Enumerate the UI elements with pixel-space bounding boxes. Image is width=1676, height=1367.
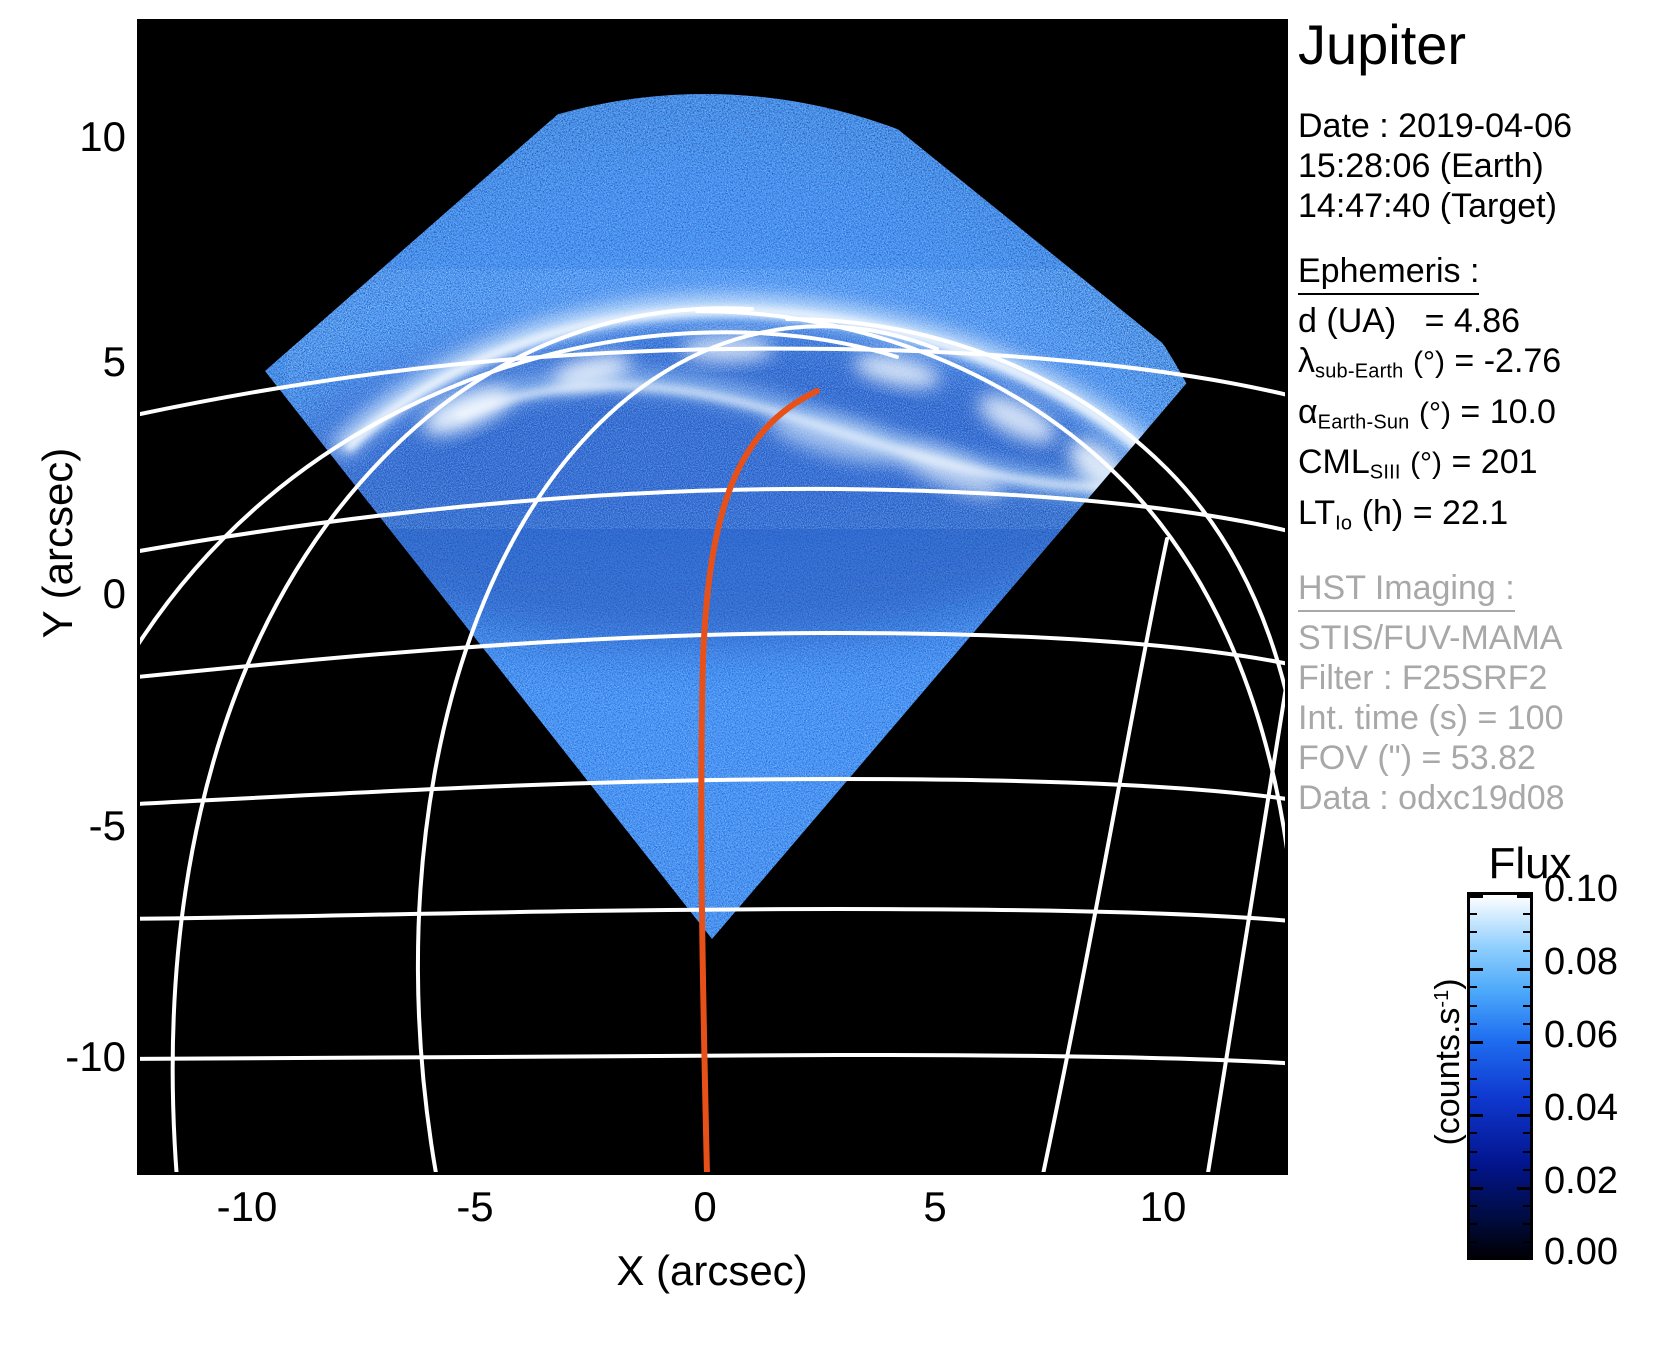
hst-field-of-view: FOV (") = 53.82	[1298, 738, 1668, 778]
x-tick-neg5: -5	[395, 1186, 555, 1228]
hst-integration-time: Int. time (s) = 100	[1298, 698, 1668, 738]
ephemeris-row-io-local-time: LTIo (h) = 22.1	[1298, 493, 1668, 544]
hst-filter: Filter : F25SRF2	[1298, 658, 1668, 698]
observation-block: Date : 2019-04-06 15:28:06 (Earth) 14:47…	[1298, 106, 1668, 226]
colorbar-tick-0.10: 0.10	[1544, 870, 1676, 908]
y-tick-neg5: -5	[8, 805, 126, 847]
x-tick-neg10: -10	[167, 1186, 327, 1228]
ephemeris-row-phase-angle: αEarth-Sun (°) = 10.0	[1298, 392, 1668, 443]
info-panel: Jupiter Date : 2019-04-06 15:28:06 (Eart…	[1298, 14, 1668, 818]
ephemeris-symbol-alpha: α	[1298, 393, 1318, 431]
ephemeris-unit-cml: (°)	[1410, 447, 1442, 480]
ephemeris-subscript-io: Io	[1335, 512, 1352, 534]
ephemeris-subscript-siii: SIII	[1370, 462, 1401, 484]
colorbar-unit-exponent: -1	[1431, 990, 1453, 1008]
ephemeris-symbol-cml: CML	[1298, 443, 1370, 481]
hst-dataset-id: Data : odxc19d08	[1298, 778, 1668, 818]
x-tick-10: 10	[1083, 1186, 1243, 1228]
ephemeris-block: Ephemeris : d (UA) = 4.86 λsub-Earth (°)…	[1298, 252, 1668, 543]
observation-date: Date : 2019-04-06	[1298, 106, 1668, 146]
colorbar-unit-close: )	[1429, 978, 1467, 989]
hst-instrument: STIS/FUV-MAMA	[1298, 618, 1668, 658]
ephemeris-unit-lambda: (°)	[1413, 346, 1445, 379]
ephemeris-row-distance: d (UA) = 4.86	[1298, 301, 1668, 341]
colorbar-unit-text: (counts.s	[1429, 1008, 1467, 1146]
y-tick-5: 5	[8, 341, 126, 383]
ephemeris-subscript-earth-sun: Earth-Sun	[1318, 411, 1410, 433]
colorbar-tick-0.02: 0.02	[1544, 1162, 1676, 1200]
ephemeris-unit-alpha: (°)	[1419, 397, 1451, 430]
colorbar-tick-0.08: 0.08	[1544, 943, 1676, 981]
y-tick-10: 10	[8, 116, 126, 158]
observation-time-earth: 15:28:06 (Earth)	[1298, 146, 1668, 186]
observation-time-target: 14:47:40 (Target)	[1298, 186, 1668, 226]
y-axis-title: Y (arcsec)	[35, 383, 81, 703]
hst-imaging-block: HST Imaging : STIS/FUV-MAMA Filter : F25…	[1298, 569, 1668, 818]
ephemeris-value-alpha: = 10.0	[1460, 393, 1555, 431]
y-tick-neg10: -10	[8, 1036, 126, 1078]
colorbar-unit-label: (counts.s-1)	[1423, 917, 1467, 1207]
aurora-image-plot	[137, 19, 1288, 1175]
ephemeris-value-lt: = 22.1	[1413, 494, 1508, 532]
ephemeris-symbol-lambda: λ	[1298, 342, 1315, 380]
ephemeris-heading: Ephemeris :	[1298, 252, 1479, 295]
ephemeris-unit-d: (UA)	[1326, 302, 1396, 340]
ephemeris-row-cml: CMLSIII (°) = 201	[1298, 442, 1668, 493]
x-tick-5: 5	[855, 1186, 1015, 1228]
ephemeris-value-lambda: = -2.76	[1454, 342, 1561, 380]
ephemeris-unit-lt: (h)	[1362, 494, 1404, 532]
ephemeris-symbol-lt: LT	[1298, 494, 1335, 532]
plot-canvas	[137, 19, 1288, 1175]
x-axis-title: X (arcsec)	[432, 1248, 992, 1294]
ephemeris-subscript-sub-earth: sub-Earth	[1315, 361, 1404, 383]
colorbar-tick-0.04: 0.04	[1544, 1089, 1676, 1127]
target-name-title: Jupiter	[1298, 14, 1668, 76]
ephemeris-symbol-d: d	[1298, 302, 1317, 340]
hst-imaging-heading: HST Imaging :	[1298, 569, 1515, 612]
colorbar-tick-0.00: 0.00	[1544, 1233, 1676, 1271]
colorbar-tick-0.06: 0.06	[1544, 1016, 1676, 1054]
ephemeris-value-d: = 4.86	[1425, 302, 1520, 340]
ephemeris-row-sub-earth-latitude: λsub-Earth (°) = -2.76	[1298, 341, 1668, 392]
ephemeris-value-cml: = 201	[1452, 443, 1538, 481]
colorbar-gradient	[1467, 892, 1533, 1260]
colorbar-group: Flux (counts.s-1) 0.10 0.08 0.06 0.04 0.…	[1330, 840, 1676, 1270]
x-tick-0: 0	[625, 1186, 785, 1228]
